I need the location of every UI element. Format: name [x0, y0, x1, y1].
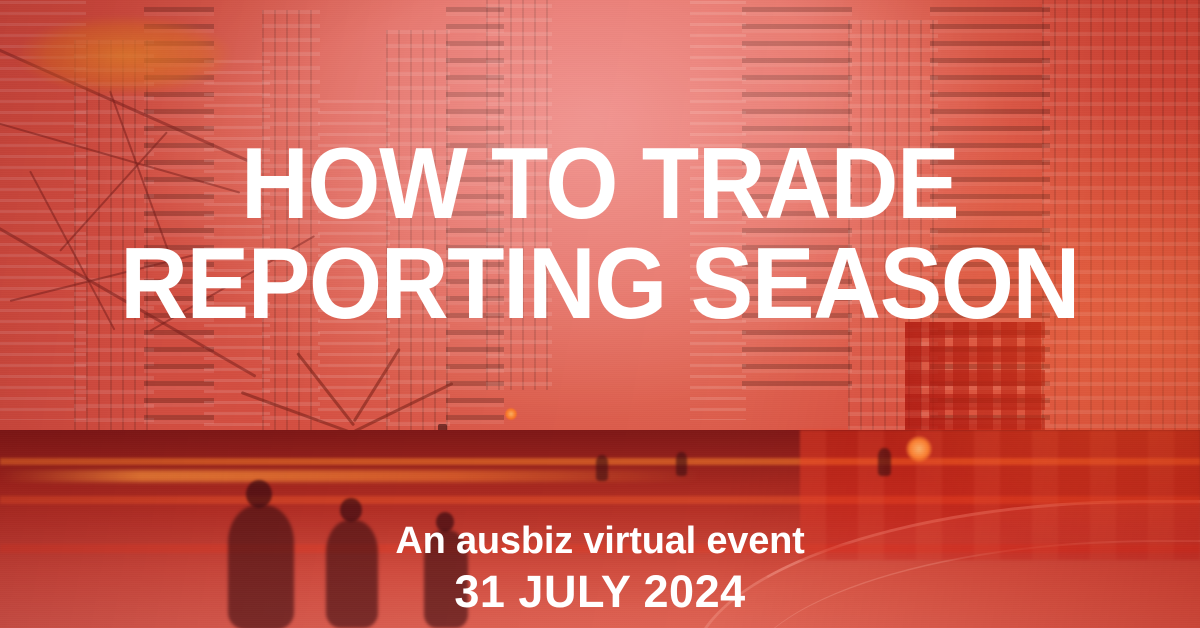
event-date: 31 JULY 2024	[454, 568, 745, 617]
headline-line-1: HOW TO TRADE	[241, 136, 958, 234]
banner-content: HOW TO TRADE REPORTING SEASON An ausbiz …	[0, 0, 1200, 628]
event-subtitle: An ausbiz virtual event	[395, 521, 804, 562]
event-promo-banner: HOW TO TRADE REPORTING SEASON An ausbiz …	[0, 0, 1200, 628]
headline-line-2: REPORTING SEASON	[121, 236, 1080, 334]
